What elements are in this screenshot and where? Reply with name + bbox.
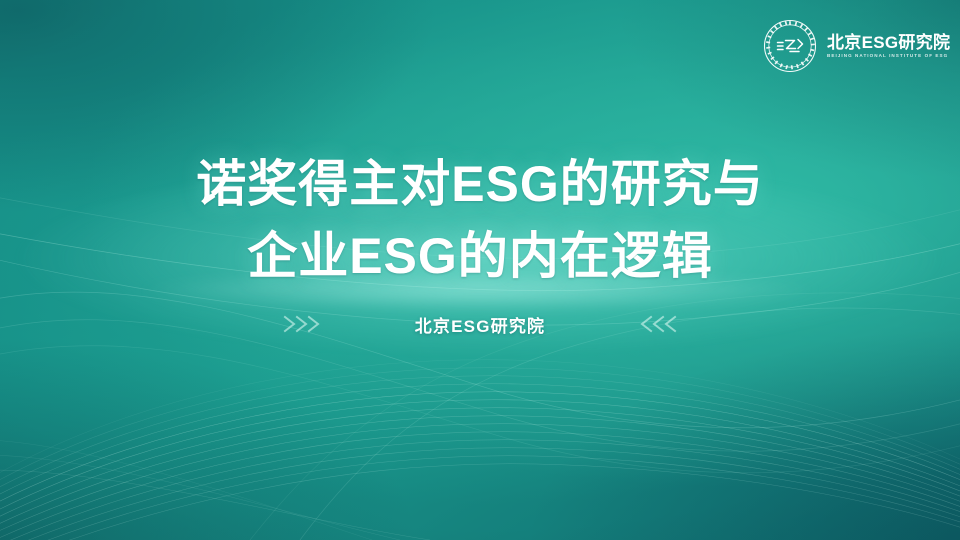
brand-name-en: BEIJING NATIONAL INSTITUTE OF ESG	[827, 54, 950, 59]
title-slide: 北京ESG研究院 BEIJING NATIONAL INSTITUTE OF E…	[0, 0, 960, 540]
circular-seal-icon	[762, 18, 818, 74]
subtitle-text: 北京ESG研究院	[415, 312, 546, 337]
title-line-2: 企业ESG的内在逻辑	[0, 220, 960, 292]
triple-chevron-left-icon	[633, 313, 679, 335]
triple-chevron-right-icon	[281, 313, 327, 335]
brand-logo-text: 北京ESG研究院 BEIJING NATIONAL INSTITUTE OF E…	[827, 34, 950, 59]
slide-subtitle-row: 北京ESG研究院	[0, 311, 960, 337]
brand-name-cn: 北京ESG研究院	[827, 34, 950, 51]
brand-logo: 北京ESG研究院 BEIJING NATIONAL INSTITUTE OF E…	[762, 18, 950, 74]
title-line-1: 诺奖得主对ESG的研究与	[0, 148, 960, 220]
slide-title: 诺奖得主对ESG的研究与 企业ESG的内在逻辑	[0, 148, 960, 292]
